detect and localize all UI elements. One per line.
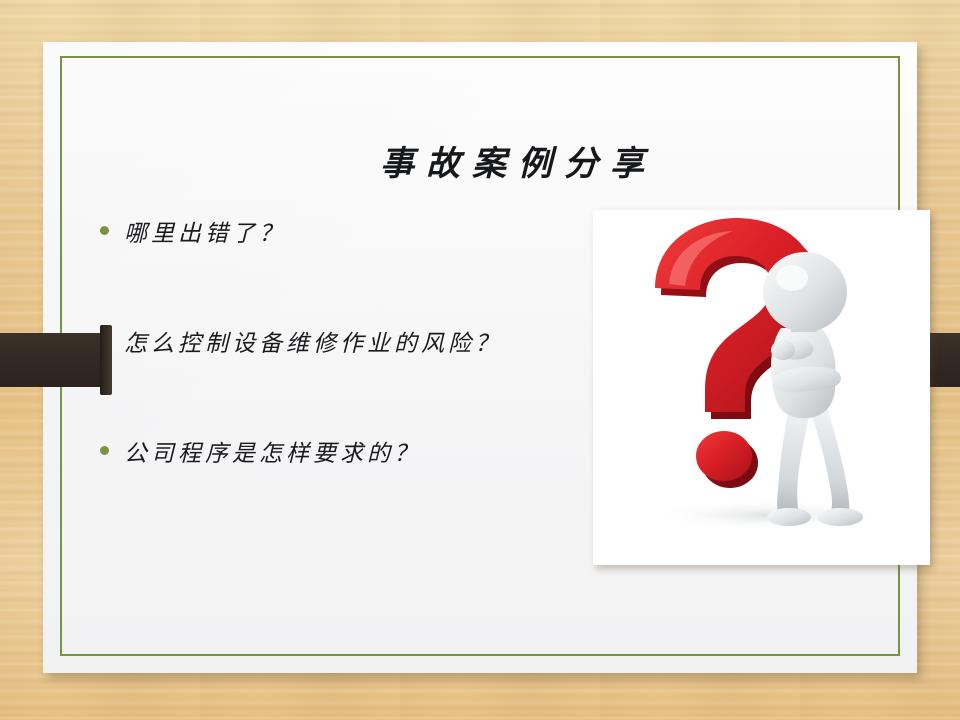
page-title: 事故案例分享	[133, 136, 903, 185]
list-item: 哪里出错了？	[100, 214, 620, 324]
bullet-dot-icon	[100, 226, 109, 235]
bullet-text: 怎么控制设备维修作业的风险？	[124, 324, 502, 358]
list-item: 公司程序是怎样要求的？	[100, 434, 620, 544]
question-mark-illustration	[593, 210, 930, 565]
bullet-dot-icon	[100, 446, 109, 455]
ribbon-fold-left	[100, 325, 112, 395]
ribbon-band-left	[0, 333, 106, 387]
bullet-text: 哪里出错了？	[124, 214, 286, 248]
question-mark-thinking-figure-photo	[593, 210, 930, 565]
bullet-list: 哪里出错了？ 怎么控制设备维修作业的风险？ 公司程序是怎样要求的？	[100, 214, 620, 544]
slide-canvas: 事故案例分享 哪里出错了？ 怎么控制设备维修作业的风险？ 公司程序是怎样要求的？	[0, 0, 960, 720]
list-item: 怎么控制设备维修作业的风险？	[100, 324, 620, 434]
bullet-text: 公司程序是怎样要求的？	[124, 434, 421, 468]
